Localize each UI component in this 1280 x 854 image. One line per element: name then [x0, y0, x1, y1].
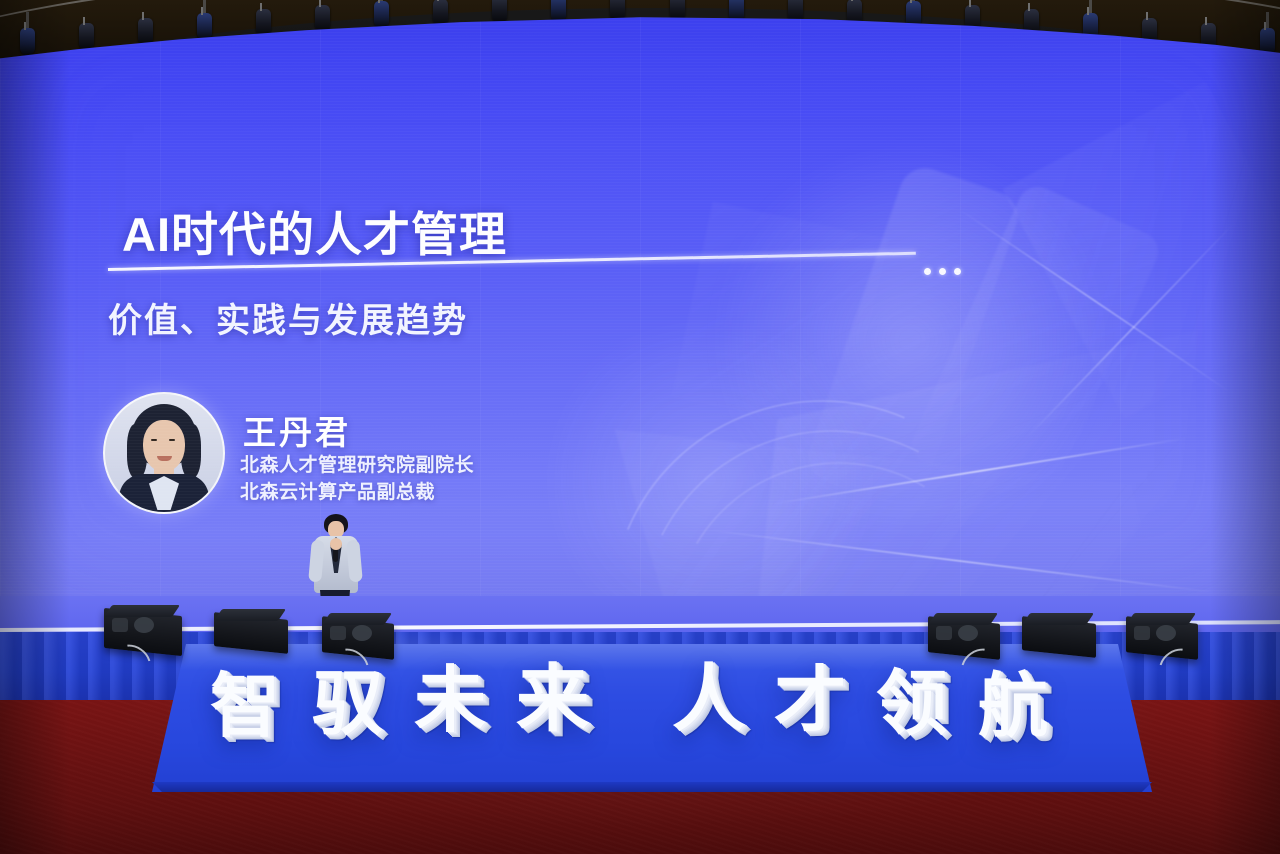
slide-title: AI时代的人才管理: [122, 196, 507, 265]
monitor-horn: [134, 617, 154, 633]
avatar-face: [143, 420, 185, 472]
monitor-top: [322, 613, 392, 625]
banner-char-8: 航: [978, 671, 1048, 741]
conference-stage-photo: AI时代的人才管理 价值、实践与发展趋势 王丹君 北森人才管理研究院副院长 北森…: [0, 0, 1280, 854]
speaker-roles: 北森人才管理研究院副院长 北森云计算产品副总裁: [240, 452, 474, 506]
banner-char-1: 智: [210, 671, 280, 741]
stage-light-1-1: [20, 28, 35, 55]
stage-monitor-1: [104, 612, 182, 652]
stage-monitor-2: [214, 616, 288, 650]
monitor-top: [928, 613, 998, 625]
banner-char-7: 领: [876, 668, 947, 739]
stage-banner-text: 智驭未来人才领航: [152, 648, 1152, 768]
divider-dot-3: [954, 268, 961, 275]
platform-front-edge: [152, 782, 1152, 792]
divider-dot-1: [924, 268, 931, 275]
speaker-role-line-2: 北森云计算产品副总裁: [240, 479, 474, 506]
lamp-hanger: [1089, 0, 1092, 13]
presenter-arm-right: [346, 540, 363, 583]
stage-light-1-7: [374, 1, 389, 28]
divider-dots: [924, 268, 961, 275]
banner-char-6: 才: [774, 665, 846, 737]
avatar-eye-left: [151, 439, 157, 441]
monitor-badge: [112, 618, 128, 632]
stage-monitor-4: [928, 620, 1000, 656]
stage-light-1-8: [433, 0, 448, 26]
monitor-badge: [936, 626, 952, 640]
lamp-hanger: [1266, 12, 1269, 28]
stage-monitor-3: [322, 620, 394, 656]
monitor-top: [1126, 613, 1196, 625]
monitor-horn: [1156, 625, 1176, 641]
monitor-horn: [352, 625, 372, 641]
banner-char-3: 未: [414, 665, 486, 737]
banner-char-5: 人: [672, 663, 745, 736]
avatar-eye-right: [169, 439, 175, 441]
lamp-hanger: [380, 0, 383, 1]
stage-monitor-5: [1022, 620, 1096, 654]
monitor-top: [104, 605, 180, 617]
stage-light-1-5: [256, 9, 271, 36]
stage-light-1-10: [551, 0, 566, 22]
stage-monitor-6: [1126, 620, 1198, 656]
stage-light-1-4: [197, 13, 212, 40]
monitor-top: [214, 609, 286, 621]
lamp-hanger: [203, 0, 206, 13]
slide-subtitle: 价值、实践与发展趋势: [108, 293, 468, 342]
speaker-role-line-1: 北森人才管理研究院副院长: [240, 452, 474, 479]
led-backdrop-screen: AI时代的人才管理 价值、实践与发展趋势 王丹君 北森人才管理研究院副院长 北森…: [0, 0, 1280, 615]
monitor-horn: [958, 625, 978, 641]
speaker-name: 王丹君: [243, 406, 351, 454]
presenter-hand: [330, 538, 342, 550]
monitor-top: [1022, 613, 1094, 625]
divider-dot-2: [939, 268, 946, 275]
lamp-hanger: [912, 0, 915, 1]
monitor-badge: [330, 626, 346, 640]
stage-light-1-2: [79, 23, 94, 50]
stage-light-1-6: [315, 5, 330, 32]
stage-light-1-9: [492, 0, 507, 23]
lamp-hanger: [26, 12, 29, 28]
monitor-badge: [1134, 626, 1150, 640]
banner-char-4: 来: [516, 663, 589, 736]
speaker-avatar: [103, 392, 225, 514]
stage-light-1-3: [138, 18, 153, 45]
